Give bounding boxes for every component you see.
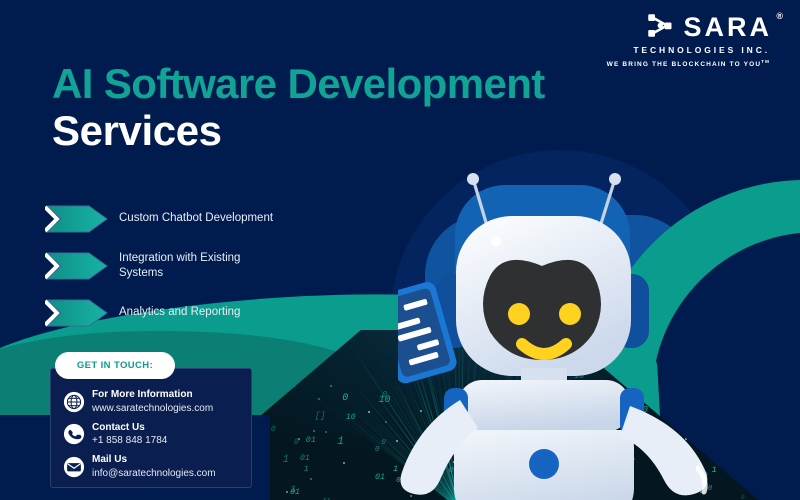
ai-robot-mascot	[398, 168, 738, 500]
contact-row-email[interactable]: Mail Us info@saratechnologies.com	[63, 454, 216, 480]
feature-label: Integration with Existing Systems	[119, 251, 279, 282]
logo-subtitle: TECHNOLOGIES INC.	[607, 45, 772, 55]
mail-icon	[63, 456, 85, 478]
page-title: AI Software Development Services	[52, 62, 545, 154]
globe-icon	[63, 391, 85, 413]
brand-logo[interactable]: SARA® TECHNOLOGIES INC. WE BRING THE BLO…	[607, 12, 772, 68]
chevron-arrow-icon	[45, 298, 109, 328]
contact-title: For More Information	[92, 389, 213, 402]
contact-value: www.saratechnologies.com	[92, 402, 213, 415]
contact-row-website[interactable]: For More Information www.saratechnologie…	[63, 389, 216, 415]
contact-card: For More Information www.saratechnologie…	[50, 368, 252, 488]
phone-icon	[63, 423, 85, 445]
logo-tagline-text: WE BRING THE BLOCKCHAIN TO YOU	[607, 61, 762, 68]
chevron-arrow-icon	[45, 251, 109, 281]
get-in-touch-label: GET IN TOUCH:	[77, 360, 153, 371]
logo-name: SARA	[683, 12, 772, 42]
sara-network-mark-icon	[646, 12, 676, 42]
list-item: Custom Chatbot Development	[45, 198, 345, 240]
headline-line-2: Services	[52, 107, 545, 154]
chevron-arrow-icon	[45, 204, 109, 234]
contact-value: info@saratechnologies.com	[92, 467, 216, 480]
robot-chest-button	[529, 449, 559, 479]
contact-value: +1 858 848 1784	[92, 434, 167, 447]
robot-eye-right	[559, 303, 581, 325]
trademark-mark: TM	[761, 59, 770, 64]
marketing-banner: 10000111011011011[]10101[]0011101[]01010…	[0, 0, 800, 500]
feature-label: Custom Chatbot Development	[119, 211, 273, 226]
logo-wordmark: SARA®	[683, 14, 772, 41]
get-in-touch-badge: GET IN TOUCH:	[55, 352, 175, 379]
headline-line-1: AI Software Development	[52, 62, 545, 107]
contact-rows: For More Information www.saratechnologie…	[63, 389, 216, 487]
contact-row-phone[interactable]: Contact Us +1 858 848 1784	[63, 422, 216, 448]
robot-shoulders	[458, 380, 630, 432]
list-item: Integration with Existing Systems	[45, 245, 345, 287]
logo-tagline: WE BRING THE BLOCKCHAIN TO YOUTM	[607, 59, 772, 68]
antenna-tip-right	[609, 173, 621, 185]
robot-head-glint	[491, 236, 501, 246]
contact-title: Mail Us	[92, 454, 216, 467]
feature-label: Analytics and Reporting	[119, 305, 240, 320]
list-item: Analytics and Reporting	[45, 292, 345, 334]
robot-eye-left	[508, 303, 530, 325]
feature-list: Custom Chatbot Development Integration w…	[45, 198, 345, 339]
contact-title: Contact Us	[92, 422, 167, 435]
registered-mark: ®	[776, 12, 783, 21]
antenna-tip-left	[467, 173, 479, 185]
